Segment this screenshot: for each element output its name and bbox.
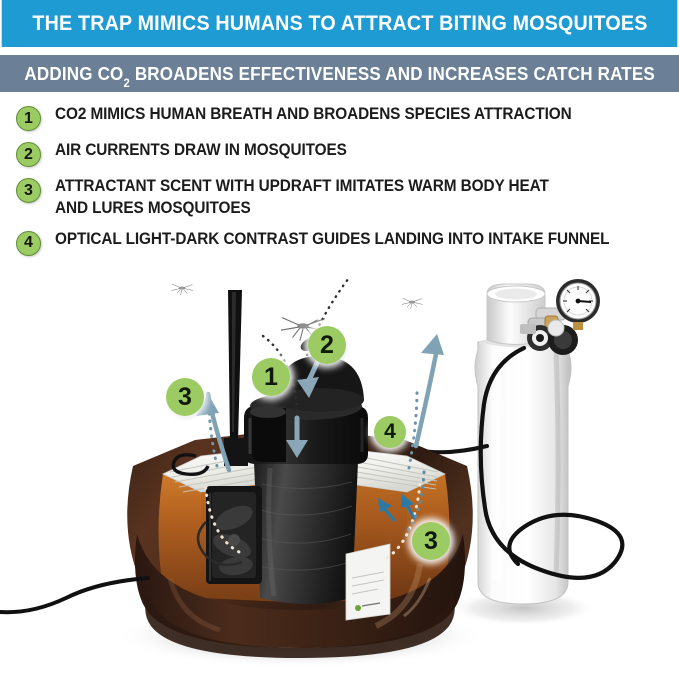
feature-number-badge-2: 2 <box>16 142 41 167</box>
feature-item-3: 3 ATTRACTANT SCENT WITH UPDRAFT IMITATES… <box>16 176 671 220</box>
callout-badge-3-left: 3 <box>166 378 204 416</box>
secondary-title-text: ADDING CO2 BROADENS EFFECTIVENESS AND IN… <box>24 63 655 85</box>
secondary-title-part-1: ADDING CO <box>24 63 123 84</box>
callout-badge-3-right: 3 <box>412 522 450 560</box>
feature-text-4: OPTICAL LIGHT-DARK CONTRAST GUIDES LANDI… <box>55 229 651 251</box>
primary-title-bar: THE TRAP MIMICS HUMANS TO ATTRACT BITING… <box>2 0 678 47</box>
feature-item-4: 4 OPTICAL LIGHT-DARK CONTRAST GUIDES LAN… <box>16 229 671 256</box>
callout-badge-1: 1 <box>252 358 290 396</box>
feature-line: AIR CURRENTS DRAW IN MOSQUITOES <box>55 140 347 162</box>
fan-assembly <box>206 486 262 584</box>
feature-number-badge-1: 1 <box>16 106 41 131</box>
lure-stack <box>244 333 368 464</box>
feature-text-1: CO2 MIMICS HUMAN BREATH AND BROADENS SPE… <box>55 104 611 126</box>
feature-line: CO2 MIMICS HUMAN BREATH AND BROADENS SPE… <box>55 104 572 126</box>
feature-item-1: 1 CO2 MIMICS HUMAN BREATH AND BROADENS S… <box>16 104 671 131</box>
feature-list: 1 CO2 MIMICS HUMAN BREATH AND BROADENS S… <box>16 104 671 265</box>
co2-subscript: 2 <box>123 76 129 90</box>
callout-badge-4: 4 <box>374 416 406 448</box>
secondary-title-bar: ADDING CO2 BROADENS EFFECTIVENESS AND IN… <box>0 55 679 92</box>
feature-text-3: ATTRACTANT SCENT WITH UPDRAFT IMITATES W… <box>55 176 586 220</box>
wick-antenna <box>224 290 248 466</box>
attractant-cartridge <box>346 544 390 620</box>
catch-bag <box>254 462 358 604</box>
mosquito <box>172 284 423 341</box>
pressure-gauge <box>556 279 600 330</box>
secondary-title-part-2: BROADENS EFFECTIVENESS AND INCREASES CAT… <box>130 63 655 84</box>
arrow-updraft-right <box>416 354 436 446</box>
feature-item-2: 2 AIR CURRENTS DRAW IN MOSQUITOES <box>16 140 671 167</box>
feature-line: OPTICAL LIGHT-DARK CONTRAST GUIDES LANDI… <box>55 229 609 251</box>
feature-number-badge-4: 4 <box>16 231 41 256</box>
feature-line: AND LURES MOSQUITOES <box>55 198 549 220</box>
primary-title-text: THE TRAP MIMICS HUMANS TO ATTRACT BITING… <box>32 11 647 36</box>
feature-text-2: AIR CURRENTS DRAW IN MOSQUITOES <box>55 140 369 162</box>
callout-badge-2: 2 <box>308 326 346 364</box>
power-cord <box>0 578 148 612</box>
infographic-page: THE TRAP MIMICS HUMANS TO ATTRACT BITING… <box>0 0 679 679</box>
product-illustration: 1 2 3 3 4 <box>0 278 679 679</box>
feature-line: ATTRACTANT SCENT WITH UPDRAFT IMITATES W… <box>55 176 549 198</box>
feature-number-badge-3: 3 <box>16 178 41 203</box>
